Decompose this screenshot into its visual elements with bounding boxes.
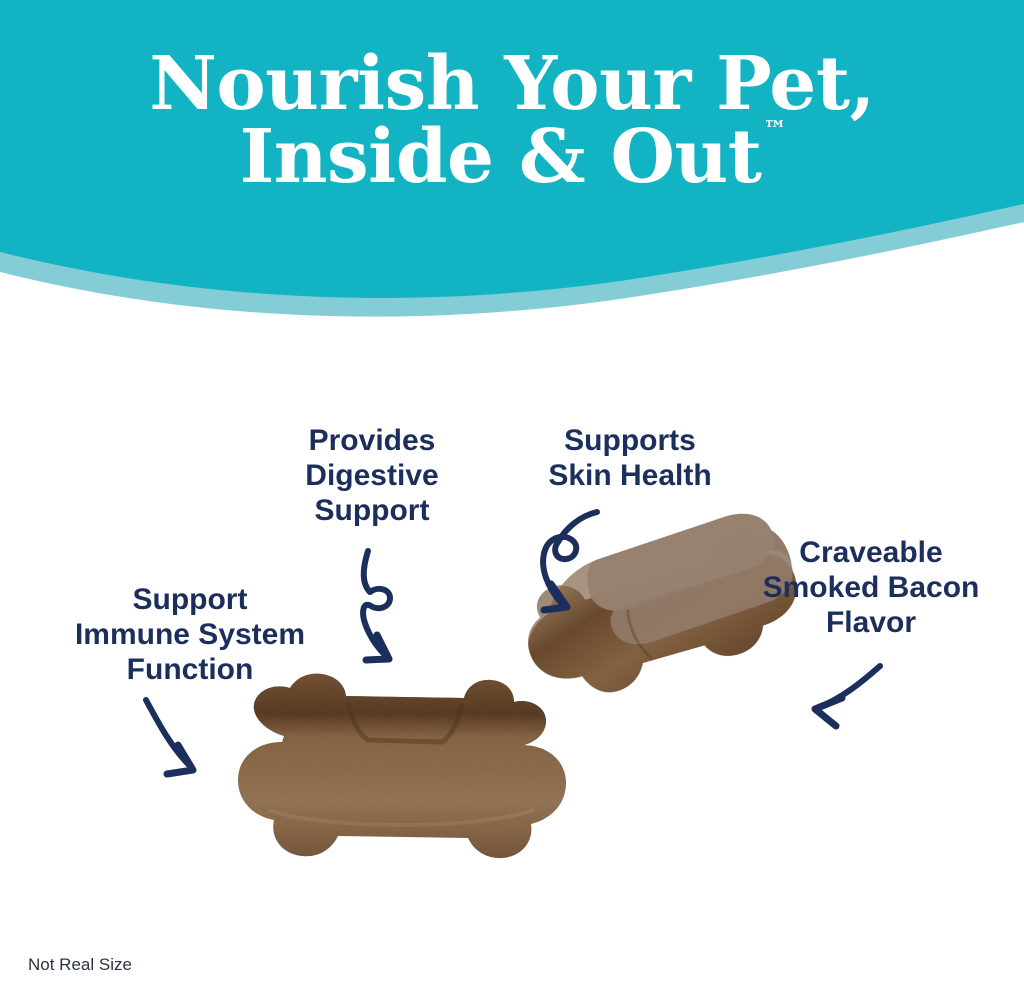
- callout-label-skin: Supports Skin Health: [470, 423, 790, 493]
- callout-label-flavor: Craveable Smoked Bacon Flavor: [718, 535, 1024, 640]
- callout-label-immune: Support Immune System Function: [0, 582, 380, 687]
- product-infographic: Nourish Your Pet, Inside & Out™: [0, 0, 1024, 1003]
- dog-bone-treat-front: [238, 674, 566, 858]
- disclaimer-text: Not Real Size: [28, 955, 132, 975]
